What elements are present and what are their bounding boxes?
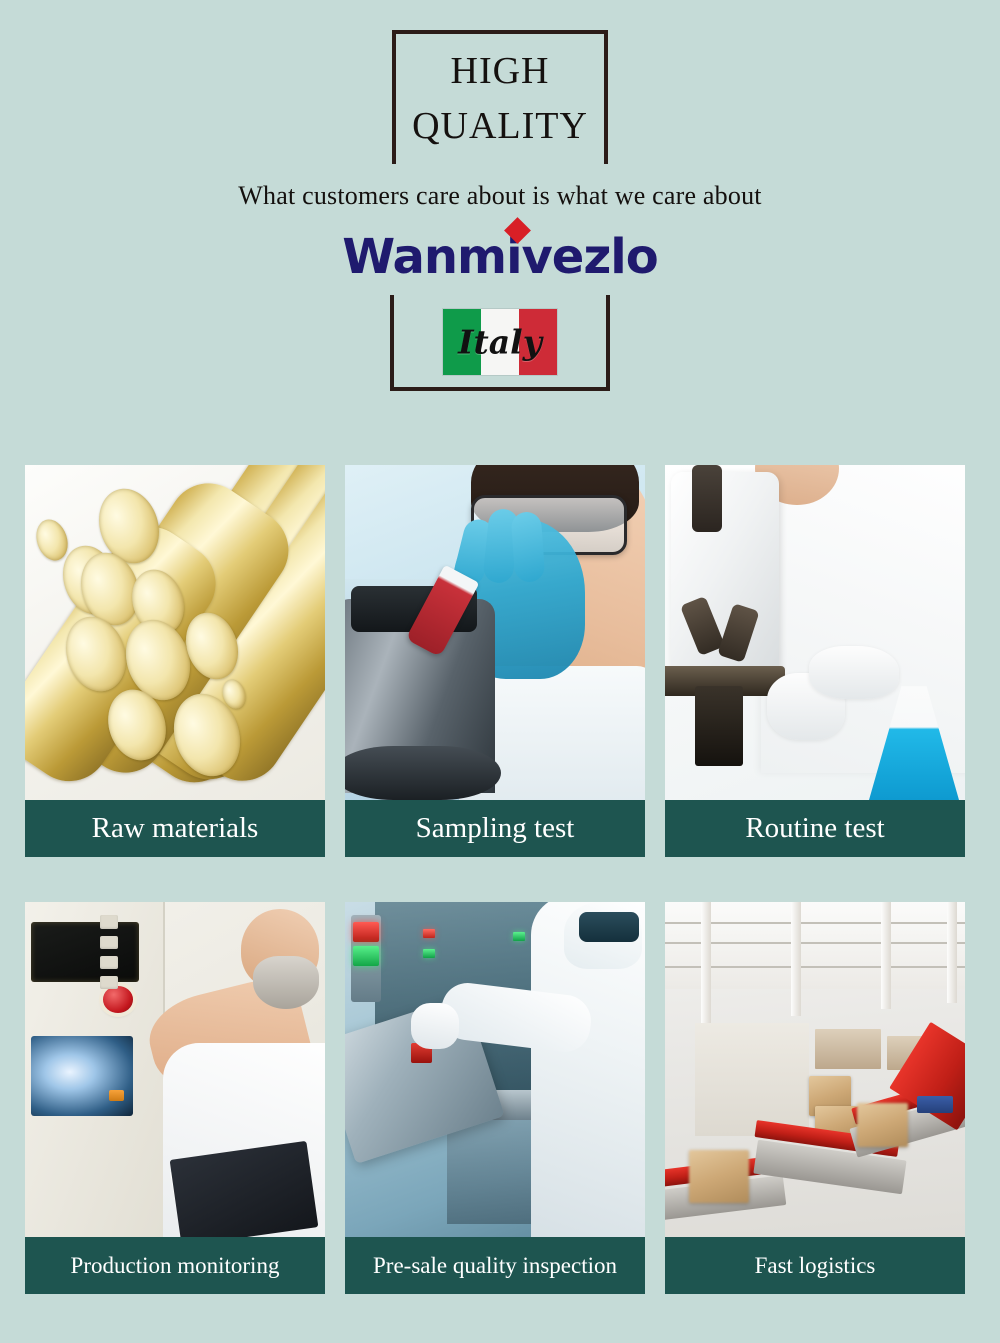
tagline: What customers care about is what we car… <box>0 181 1000 211</box>
warehouse-scene <box>665 902 965 1237</box>
header-section: HIGH QUALITY What customers care about i… <box>0 0 1000 391</box>
brand-name: Wanmivezlo <box>342 233 657 281</box>
process-card[interactable]: Pre-sale quality inspection <box>345 902 645 1294</box>
process-card[interactable]: Routine test <box>665 465 965 857</box>
process-card[interactable]: Fast logistics <box>665 902 965 1294</box>
brand-logo: Wanmivezlo <box>342 233 657 281</box>
card-label: Fast logistics <box>665 1237 965 1294</box>
process-card[interactable]: Raw materials <box>25 465 325 857</box>
country-badge-label: Italy <box>458 323 542 362</box>
quality-banner-page: HIGH QUALITY What customers care about i… <box>0 0 1000 1343</box>
country-badge-bottom-rule <box>390 387 610 391</box>
cleanroom-scene <box>345 902 645 1237</box>
card-label: Production monitoring <box>25 1237 325 1294</box>
headline-frame: HIGH QUALITY <box>392 30 608 164</box>
card-photo-presale-inspection <box>345 902 645 1237</box>
card-label: Pre-sale quality inspection <box>345 1237 645 1294</box>
card-photo-fast-logistics <box>665 902 965 1237</box>
headline-frame-top-rule <box>392 30 608 34</box>
process-card[interactable]: Sampling test <box>345 465 645 857</box>
headline-line-1: HIGH <box>392 44 608 99</box>
card-photo-raw-materials <box>25 465 325 800</box>
card-photo-routine-test <box>665 465 965 800</box>
card-photo-production-monitoring <box>25 902 325 1237</box>
headline-line-2: QUALITY <box>392 99 608 154</box>
card-photo-sampling-test <box>345 465 645 800</box>
brass-rods-scene <box>25 465 325 800</box>
card-label: Sampling test <box>345 800 645 857</box>
lab-technician-scene <box>345 465 645 800</box>
control-panel-scene <box>25 902 325 1237</box>
card-label: Routine test <box>665 800 965 857</box>
microscope-scene <box>665 465 965 800</box>
process-card-grid: Raw materials <box>25 465 965 1294</box>
process-card[interactable]: Production monitoring <box>25 902 325 1294</box>
country-badge-frame: Italy <box>390 295 610 391</box>
card-label: Raw materials <box>25 800 325 857</box>
